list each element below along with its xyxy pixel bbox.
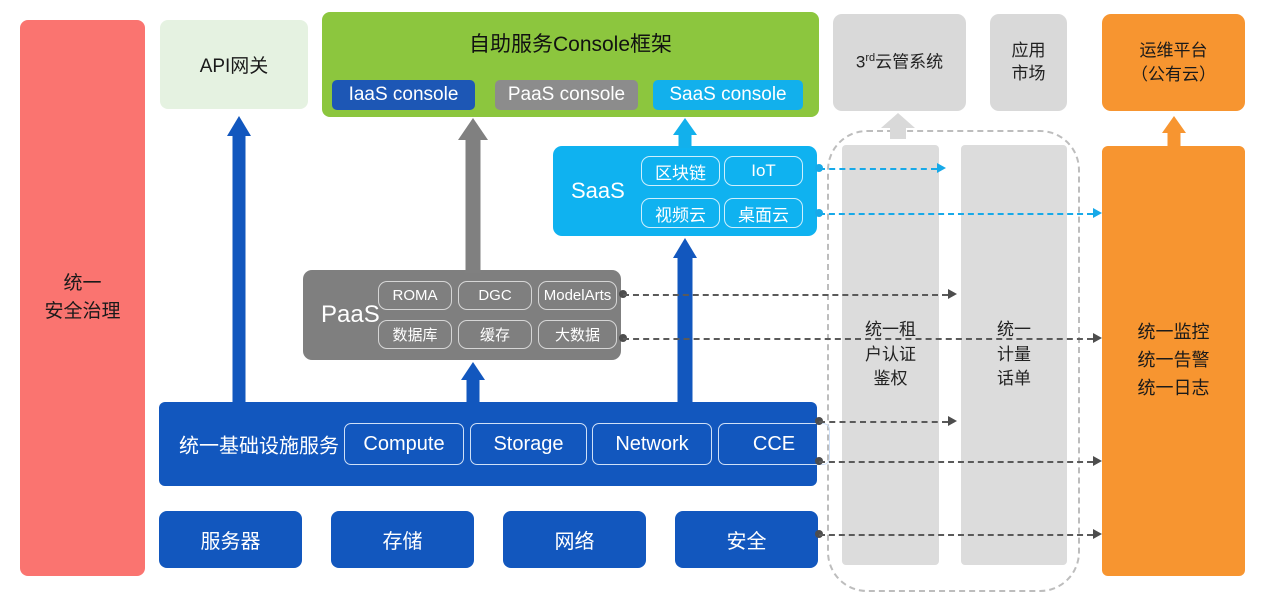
app-market-box: 应用 市场	[990, 14, 1067, 111]
paas-chip-dgc[interactable]: DGC	[458, 281, 532, 310]
connector-resources-to-ops	[819, 534, 1093, 536]
third-party-cloud-mgmt-box: 3rd云管系统	[833, 14, 966, 111]
unified-security-governance-panel: 统一 安全治理	[20, 20, 145, 576]
center-column-tenant-auth-line1: 统一租	[865, 320, 916, 339]
paas-box: PaaS ROMA DGC ModelArts 数据库 缓存 大数据	[303, 270, 621, 360]
saas-console-label: SaaS console	[669, 84, 786, 106]
resource-box-storage-label: 存储	[383, 525, 423, 554]
connector-saas-to-ops	[819, 213, 1093, 215]
app-market-line2: 市场	[1012, 64, 1046, 83]
ops-platform-line1: 运维平台	[1140, 41, 1208, 60]
connector-arrowhead-resources-ops	[1093, 529, 1102, 539]
connector-arrowhead-saas-auth	[937, 163, 946, 173]
unified-security-line1: 统一	[63, 273, 101, 294]
infra-chip-cce-label: CCE	[753, 433, 795, 456]
self-service-console-framework: 自助服务Console框架 IaaS console PaaS console …	[322, 12, 819, 117]
arrow-paas-to-console	[455, 118, 491, 273]
infra-chip-storage-label: Storage	[493, 433, 563, 456]
paas-chip-dgc-label: DGC	[478, 287, 511, 304]
saas-console-chip[interactable]: SaaS console	[653, 80, 803, 110]
paas-console-chip[interactable]: PaaS console	[495, 80, 638, 110]
paas-chip-modelarts[interactable]: ModelArts	[538, 281, 617, 310]
iaas-console-label: IaaS console	[349, 84, 459, 106]
unified-infrastructure-label: 统一基础设施服务	[179, 430, 339, 459]
arrow-shared-services-to-third-party-cloud	[879, 113, 917, 139]
iaas-console-chip[interactable]: IaaS console	[332, 80, 475, 110]
paas-chip-database-label: 数据库	[392, 324, 437, 345]
connector-infra-to-ops	[819, 461, 1093, 463]
unified-monitoring-panel: 统一监控 统一告警 统一日志	[1102, 146, 1245, 576]
connector-arrowhead-infra-ops	[1093, 456, 1102, 466]
saas-chip-blockchain-label: 区块链	[655, 159, 706, 184]
api-gateway-box: API网关	[160, 20, 308, 109]
arrow-infra-to-api-gateway	[222, 116, 256, 404]
infra-chip-cce[interactable]: CCE	[718, 423, 830, 465]
resource-box-security[interactable]: 安全	[675, 511, 818, 568]
saas-chip-video-cloud-label: 视频云	[655, 201, 706, 226]
ops-platform-line2: （公有云）	[1131, 65, 1216, 84]
saas-chip-desktop-cloud[interactable]: 桌面云	[724, 198, 803, 228]
paas-chip-roma[interactable]: ROMA	[378, 281, 452, 310]
connector-arrowhead-paas-ops	[1093, 333, 1102, 343]
saas-box: SaaS 区块链 IoT 视频云 桌面云	[553, 146, 817, 236]
saas-chip-iot[interactable]: IoT	[724, 156, 803, 186]
api-gateway-label: API网关	[200, 51, 269, 78]
resource-box-server-label: 服务器	[201, 525, 261, 554]
ops-platform-public-cloud-box: 运维平台 （公有云）	[1102, 14, 1245, 111]
third-party-cloud-sup: rd	[865, 52, 875, 64]
resource-box-server[interactable]: 服务器	[159, 511, 302, 568]
third-party-cloud-prefix: 3	[856, 52, 865, 71]
arrow-infra-to-saas	[668, 238, 702, 405]
connector-paas-to-tenant-auth	[623, 294, 948, 296]
console-framework-title: 自助服务Console框架	[322, 28, 819, 58]
connector-arrowhead-paas-auth	[948, 289, 957, 299]
saas-chip-desktop-cloud-label: 桌面云	[738, 201, 789, 226]
connector-infra-to-tenant-auth	[819, 421, 948, 423]
center-column-tenant-auth: 统一租 户认证 鉴权	[842, 145, 939, 565]
paas-chip-cache-label: 缓存	[480, 324, 510, 345]
saas-chip-video-cloud[interactable]: 视频云	[641, 198, 720, 228]
resource-box-security-label: 安全	[727, 525, 767, 554]
saas-chip-iot-label: IoT	[751, 161, 776, 181]
paas-chip-roma-label: ROMA	[393, 287, 438, 304]
resource-box-network[interactable]: 网络	[503, 511, 646, 568]
saas-chip-blockchain[interactable]: 区块链	[641, 156, 720, 186]
arrow-infra-to-paas	[456, 362, 490, 405]
connector-arrowhead-saas-ops	[1093, 208, 1102, 218]
center-column-metering-line1: 统一	[997, 320, 1031, 339]
center-column-metering-billing: 统一 计量 话单	[961, 145, 1067, 565]
resource-box-network-label: 网络	[555, 525, 595, 554]
saas-label: SaaS	[571, 178, 625, 204]
app-market-line1: 应用	[1012, 41, 1046, 60]
connector-arrowhead-infra-auth	[948, 416, 957, 426]
center-column-tenant-auth-line3: 鉴权	[874, 369, 908, 388]
connector-paas-to-ops	[623, 338, 1093, 340]
unified-security-line2: 安全治理	[44, 301, 120, 322]
infra-chip-storage[interactable]: Storage	[470, 423, 587, 465]
paas-label: PaaS	[321, 301, 380, 329]
unified-alarm-line2: 统一告警	[1138, 350, 1210, 370]
infra-chip-network-label: Network	[615, 433, 688, 456]
infra-chip-compute-label: Compute	[363, 433, 444, 456]
infra-chip-compute[interactable]: Compute	[344, 423, 464, 465]
unified-infrastructure-service-bar: 统一基础设施服务 Compute Storage Network CCE	[159, 402, 817, 486]
paas-chip-modelarts-label: ModelArts	[544, 287, 612, 304]
arrow-to-ops-platform	[1157, 116, 1191, 146]
connector-saas-to-tenant-auth	[819, 168, 937, 170]
unified-monitoring-line1: 统一监控	[1138, 322, 1210, 342]
paas-chip-cache[interactable]: 缓存	[458, 320, 532, 349]
unified-log-line3: 统一日志	[1138, 378, 1210, 398]
center-column-metering-line3: 话单	[997, 369, 1031, 388]
paas-chip-bigdata[interactable]: 大数据	[538, 320, 617, 349]
paas-chip-bigdata-label: 大数据	[555, 324, 600, 345]
arrow-saas-to-saas-console	[668, 118, 702, 148]
paas-chip-database[interactable]: 数据库	[378, 320, 452, 349]
center-column-metering-line2: 计量	[997, 345, 1031, 364]
infra-chip-network[interactable]: Network	[592, 423, 712, 465]
center-column-tenant-auth-line2: 户认证	[865, 345, 916, 364]
resource-box-storage[interactable]: 存储	[331, 511, 474, 568]
third-party-cloud-suffix: 云管系统	[875, 52, 943, 71]
paas-console-label: PaaS console	[508, 84, 625, 106]
architecture-diagram: 统一租 户认证 鉴权 统一 计量 话单 统一 安全治理 API网关 自助服务Co…	[0, 0, 1265, 605]
